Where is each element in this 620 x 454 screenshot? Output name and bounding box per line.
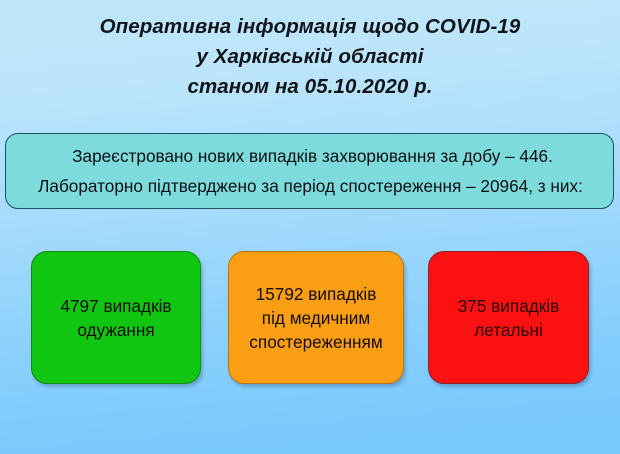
- stat-recovered-line-1: 4797 випадків: [60, 294, 171, 318]
- stat-box-under-observation: 15792 випадків під медичним спостереженн…: [228, 251, 404, 384]
- summary-info-panel: Зареєстровано нових випадків захворюванн…: [5, 133, 614, 209]
- covid-info-slide: Оперативна інформація щодо COVID-19 у Ха…: [0, 0, 620, 454]
- stat-recovered-line-2: одужання: [77, 318, 154, 342]
- stat-fatal-line-2: летальні: [474, 318, 543, 342]
- page-title: Оперативна інформація щодо COVID-19 у Ха…: [0, 12, 620, 102]
- stat-box-fatal: 375 випадків летальні: [428, 251, 589, 384]
- stat-fatal-line-1: 375 випадків: [458, 294, 560, 318]
- lab-confirmed-line: Лабораторно підтверджено за період спост…: [38, 171, 583, 201]
- stat-box-recovered: 4797 випадків одужання: [31, 251, 201, 384]
- title-line-1: Оперативна інформація щодо COVID-19: [0, 12, 620, 42]
- stat-observation-line-2: під медичним: [262, 306, 370, 330]
- title-line-3: станом на 05.10.2020 р.: [0, 72, 620, 102]
- new-cases-line: Зареєстровано нових випадків захворюванн…: [72, 141, 553, 171]
- title-line-2: у Харківській області: [0, 42, 620, 72]
- stat-observation-line-1: 15792 випадків: [256, 282, 377, 306]
- stat-observation-line-3: спостереженням: [249, 330, 382, 354]
